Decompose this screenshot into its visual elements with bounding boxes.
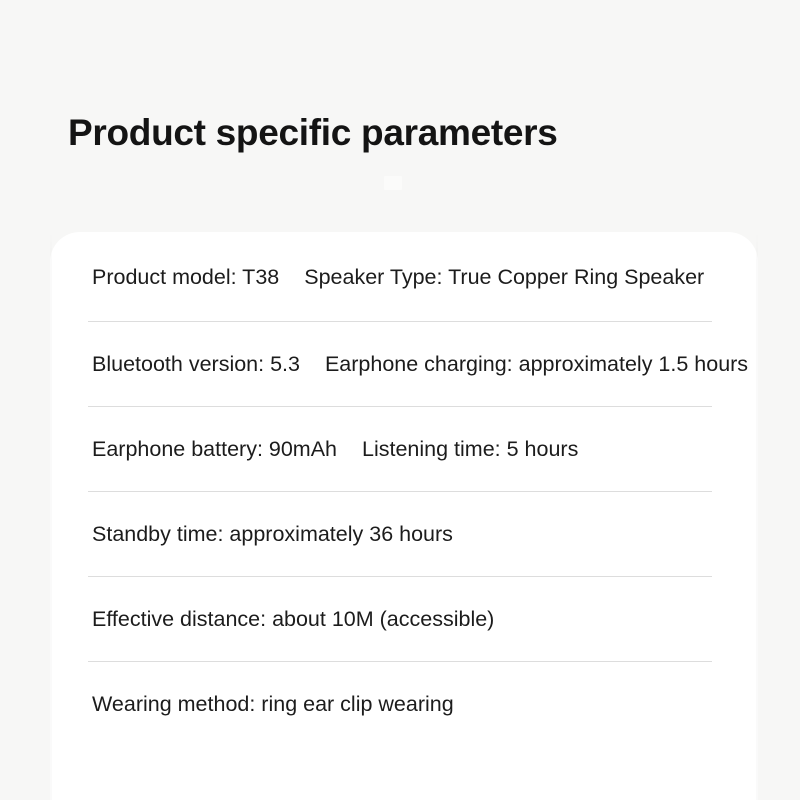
spec-primary-value: Standby time: approximately 36 hours <box>92 521 453 548</box>
spec-primary-value: Earphone battery: 90mAh <box>92 436 337 463</box>
table-row: Standby time: approximately 36 hours <box>50 492 758 577</box>
table-row: Product model: T38 Speaker Type: True Co… <box>50 232 758 322</box>
spec-secondary-value: Listening time: 5 hours <box>362 436 578 463</box>
decorative-square <box>384 176 402 190</box>
spec-secondary-value: Earphone charging: approximately 1.5 hou… <box>325 351 748 378</box>
table-row: Bluetooth version: 5.3 Earphone charging… <box>50 322 758 407</box>
spec-primary-value: Wearing method: ring ear clip wearing <box>92 691 454 718</box>
spec-secondary-value: Speaker Type: True Copper Ring Speaker <box>304 264 704 291</box>
product-spec-page: Product specific parameters Product mode… <box>0 0 800 800</box>
spec-primary-value: Effective distance: about 10M (accessibl… <box>92 606 494 633</box>
table-row: Effective distance: about 10M (accessibl… <box>50 577 758 662</box>
table-row: Earphone battery: 90mAh Listening time: … <box>50 407 758 492</box>
spec-primary-value: Bluetooth version: 5.3 <box>92 351 300 378</box>
spec-card: Product model: T38 Speaker Type: True Co… <box>50 232 758 800</box>
spec-primary-value: Product model: T38 <box>92 264 279 291</box>
page-title: Product specific parameters <box>68 111 558 155</box>
spec-table: Product model: T38 Speaker Type: True Co… <box>50 232 758 747</box>
table-row: Wearing method: ring ear clip wearing <box>50 662 758 747</box>
